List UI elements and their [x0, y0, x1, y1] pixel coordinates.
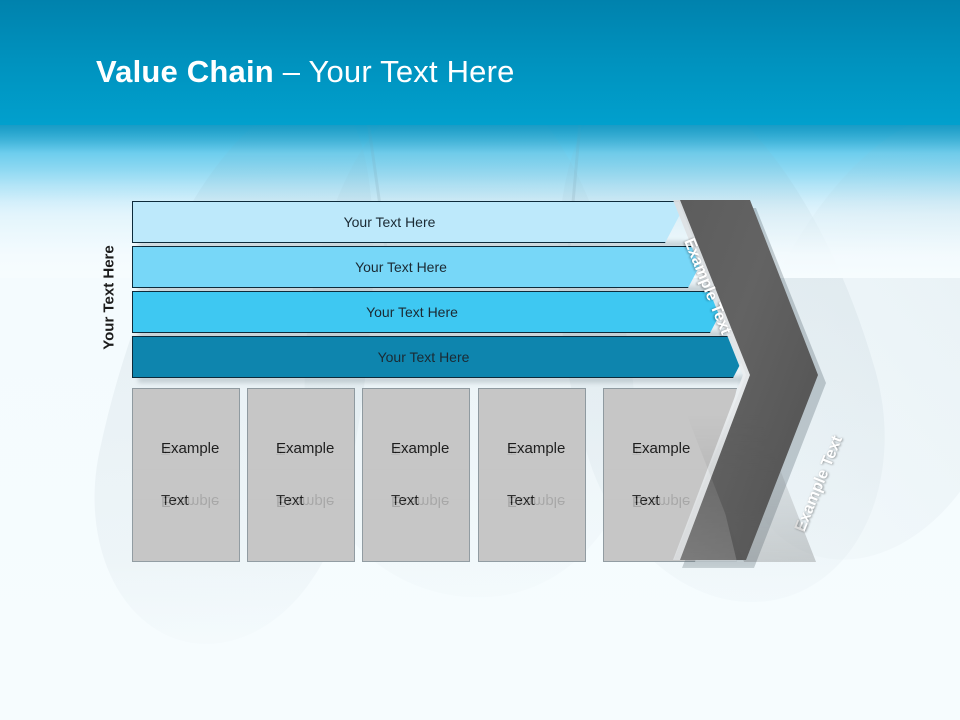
value-chain-bar-1-label: Your Text Here: [133, 214, 686, 230]
value-chain-bar-1[interactable]: Your Text Here: [132, 201, 687, 243]
activity-box-1-label: ExampleText: [133, 436, 219, 513]
activity-box-1[interactable]: ExampleText: [132, 388, 240, 562]
activity-box-4[interactable]: ExampleText: [478, 388, 586, 562]
value-chain-diagram: Your Text Here Your Text Here Your Text …: [0, 0, 960, 720]
value-chain-bar-2[interactable]: Your Text Here: [132, 246, 710, 288]
chevron-arrow[interactable]: Example Text Example Text: [660, 190, 860, 575]
value-chain-bar-3-label: Your Text Here: [133, 304, 731, 320]
value-chain-bar-2-label: Your Text Here: [133, 259, 709, 275]
activity-box-3[interactable]: ExampleText: [362, 388, 470, 562]
activity-box-3-label: ExampleText: [363, 436, 449, 513]
vertical-axis-label-text: Your Text Here: [101, 245, 118, 349]
activity-box-4-label: ExampleText: [479, 436, 565, 513]
vertical-axis-label: Your Text Here: [98, 222, 120, 372]
activity-box-2-label: ExampleText: [248, 436, 334, 513]
slide-canvas: Value Chain – Your Text Here Your Text H…: [0, 0, 960, 720]
activity-box-2[interactable]: ExampleText: [247, 388, 355, 562]
value-chain-bar-3[interactable]: Your Text Here: [132, 291, 732, 333]
